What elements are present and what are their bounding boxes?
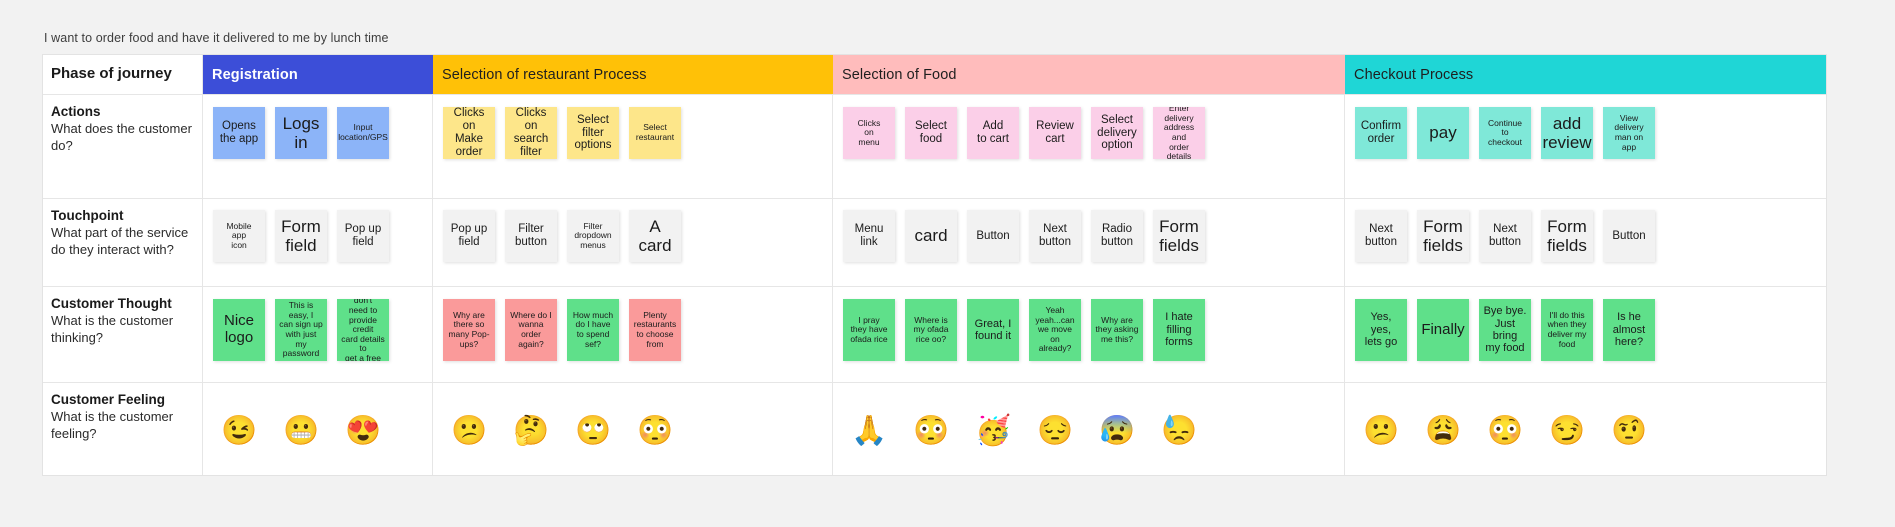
cells: 😕🤔🙄😳: [433, 383, 833, 475]
action-group-checkout: ConfirmorderpayContinuetocheckoutaddrevi…: [1345, 95, 1826, 198]
emoji-icon: 🤔: [505, 417, 557, 446]
cells: ConfirmorderpayContinuetocheckoutaddrevi…: [1345, 95, 1826, 198]
emoji-icon: 😰: [1091, 417, 1143, 446]
row-label-touchpoint-title: Touchpoint: [51, 208, 202, 225]
feeling-group-checkout: 😕😩😳😏🤨: [1345, 383, 1826, 475]
row-touchpoint: Touchpoint What part of the service do t…: [43, 199, 1826, 287]
cells: Yes, yes,lets goFinallyBye bye.Just brin…: [1345, 287, 1826, 382]
thought-note[interactable]: Bye bye.Just bringmy food: [1479, 299, 1531, 361]
action-note[interactable]: Continuetocheckout: [1479, 107, 1531, 159]
row-label-feeling-sub: What is the customer feeling?: [51, 409, 202, 442]
touchpoint-group-restaurant: Pop upfieldFilterbuttonFilterdropdownmen…: [433, 199, 833, 286]
touchpoint-note[interactable]: Formfields: [1153, 210, 1205, 262]
touchpoint-note[interactable]: card: [905, 210, 957, 262]
emoji-icon: 😉: [213, 417, 265, 446]
touchpoint-note[interactable]: Formfields: [1417, 210, 1469, 262]
action-note[interactable]: Addto cart: [967, 107, 1019, 159]
emoji-icon: 😳: [1479, 417, 1531, 446]
thought-note[interactable]: Where do Iwannaorderagain?: [505, 299, 557, 361]
thought-group-restaurant: Why arethere somany Pop-ups?Where do Iwa…: [433, 287, 833, 382]
touchpoint-group-checkout: NextbuttonFormfieldsNextbuttonFormfields…: [1345, 199, 1826, 286]
thought-group-registration: NicelogoThis is easy, Ican sign upwith j…: [203, 287, 433, 382]
action-group-food: ClicksonmenuSelectfoodAddto cartReviewca…: [833, 95, 1345, 198]
action-note[interactable]: Selectfood: [905, 107, 957, 159]
phase-header-checkout[interactable]: Checkout Process: [1345, 55, 1826, 94]
phase-header-registration[interactable]: Registration: [203, 55, 433, 94]
emoji-icon: 🥳: [967, 417, 1019, 446]
action-note[interactable]: Reviewcart: [1029, 107, 1081, 159]
thought-note[interactable]: Why arethey askingme this?: [1091, 299, 1143, 361]
thought-note[interactable]: Finally: [1417, 299, 1469, 361]
phase-column-restaurant: Selection of restaurant Process: [433, 55, 833, 94]
emoji-icon: 🙏: [843, 417, 895, 446]
phase-column-registration: Registration: [203, 55, 433, 94]
action-note[interactable]: Selectfilteroptions: [567, 107, 619, 159]
emoji-icon: 😍: [337, 417, 389, 446]
cells: 😉😬😍: [203, 383, 433, 475]
action-group-registration: Opensthe appLogsinInputlocation/GPS: [203, 95, 433, 198]
action-note[interactable]: Inputlocation/GPS: [337, 107, 389, 159]
touchpoint-note[interactable]: Formfields: [1541, 210, 1593, 262]
phase-header-restaurant[interactable]: Selection of restaurant Process: [433, 55, 833, 94]
thought-note[interactable]: Why arethere somany Pop-ups?: [443, 299, 495, 361]
action-note[interactable]: Selectrestaurant: [629, 107, 681, 159]
thought-note[interactable]: Is healmosthere?: [1603, 299, 1655, 361]
row-actions: Actions What does the customer do? Opens…: [43, 95, 1826, 199]
row-label-touchpoint: Touchpoint What part of the service do t…: [43, 199, 203, 286]
thought-note[interactable]: How muchdo I haveto spendsef?: [567, 299, 619, 361]
touchpoint-note[interactable]: Pop upfield: [337, 210, 389, 262]
journey-map-grid: Phase of journey RegistrationSelection o…: [43, 55, 1826, 475]
thought-note[interactable]: I'll do thiswhen theydeliver myfood: [1541, 299, 1593, 361]
emoji-icon: 🤨: [1603, 417, 1655, 446]
cells: Opensthe appLogsinInputlocation/GPS: [203, 95, 433, 198]
action-note[interactable]: Viewdeliveryman onapp: [1603, 107, 1655, 159]
touchpoint-note[interactable]: Filterbutton: [505, 210, 557, 262]
row-thought: Customer Thought What is the customer th…: [43, 287, 1826, 383]
thought-group-food: I praythey haveofada riceWhere ismy ofad…: [833, 287, 1345, 382]
cells: Clicks onMakeorderClicks onsearchfilterS…: [433, 95, 833, 198]
emoji-icon: 😬: [275, 417, 327, 446]
row-label-feeling-title: Customer Feeling: [51, 392, 202, 409]
thought-group-checkout: Yes, yes,lets goFinallyBye bye.Just brin…: [1345, 287, 1826, 382]
emoji-icon: 😏: [1541, 417, 1593, 446]
action-note[interactable]: Selectdeliveryoption: [1091, 107, 1143, 159]
thought-note[interactable]: Nicelogo: [213, 299, 265, 361]
action-note[interactable]: Clicks onsearchfilter: [505, 107, 557, 159]
emoji-icon: 😔: [1029, 417, 1081, 446]
feeling-group-restaurant: 😕🤔🙄😳: [433, 383, 833, 475]
row-label-actions-title: Actions: [51, 104, 202, 121]
thought-note[interactable]: Yeahyeah...canwe moveon already?: [1029, 299, 1081, 361]
touchpoint-note[interactable]: Acard: [629, 210, 681, 262]
feeling-group-registration: 😉😬😍: [203, 383, 433, 475]
touchpoint-note[interactable]: Button: [1603, 210, 1655, 262]
touchpoint-note[interactable]: Nextbutton: [1355, 210, 1407, 262]
cells: NextbuttonFormfieldsNextbuttonFormfields…: [1345, 199, 1826, 286]
touchpoint-note[interactable]: Button: [967, 210, 1019, 262]
thought-cells: NicelogoThis is easy, Ican sign upwith j…: [203, 287, 1826, 382]
row-label-phase: Phase of journey: [43, 55, 203, 94]
cells: I praythey haveofada riceWhere ismy ofad…: [833, 287, 1345, 382]
row-feeling: Customer Feeling What is the customer fe…: [43, 383, 1826, 475]
thought-note[interactable]: Great, Ifound it: [967, 299, 1019, 361]
touchpoint-note[interactable]: Formfield: [275, 210, 327, 262]
cells: 😕😩😳😏🤨: [1345, 383, 1826, 475]
journey-map-board: I want to order food and have it deliver…: [0, 0, 1895, 527]
thought-note[interactable]: Great I don'tneed toprovide creditcard d…: [337, 299, 389, 361]
actions-cells: Opensthe appLogsinInputlocation/GPSClick…: [203, 95, 1826, 198]
thought-note[interactable]: This is easy, Ican sign upwith just mypa…: [275, 299, 327, 361]
row-label-touchpoint-sub: What part of the service do they interac…: [51, 225, 202, 258]
phase-column-food: Selection of Food: [833, 55, 1345, 94]
cells: MobileappiconFormfieldPop upfield: [203, 199, 433, 286]
action-note[interactable]: Logsin: [275, 107, 327, 159]
touchpoint-note[interactable]: Nextbutton: [1029, 210, 1081, 262]
row-label-phase-title: Phase of journey: [51, 65, 172, 84]
emoji-icon: 😕: [443, 417, 495, 446]
phase-column-checkout: Checkout Process: [1345, 55, 1826, 94]
emoji-icon: 🙄: [567, 417, 619, 446]
action-note[interactable]: Confirmorder: [1355, 107, 1407, 159]
cells: Why arethere somany Pop-ups?Where do Iwa…: [433, 287, 833, 382]
cells: 🙏😳🥳😔😰😓: [833, 383, 1345, 475]
touchpoint-note[interactable]: Mobileappicon: [213, 210, 265, 262]
action-note[interactable]: pay: [1417, 107, 1469, 159]
touchpoint-group-registration: MobileappiconFormfieldPop upfield: [203, 199, 433, 286]
row-label-thought-sub: What is the customer thinking?: [51, 313, 202, 346]
touchpoint-note[interactable]: Radiobutton: [1091, 210, 1143, 262]
phase-band-container: RegistrationSelection of restaurant Proc…: [203, 55, 1826, 94]
thought-note[interactable]: I hatefillingforms: [1153, 299, 1205, 361]
action-note[interactable]: Clicks onMakeorder: [443, 107, 495, 159]
touchpoint-note[interactable]: Menulink: [843, 210, 895, 262]
action-note[interactable]: Enterdeliveryaddress andorder details: [1153, 107, 1205, 159]
row-label-actions: Actions What does the customer do?: [43, 95, 203, 198]
row-label-feeling: Customer Feeling What is the customer fe…: [43, 383, 203, 475]
cells: ClicksonmenuSelectfoodAddto cartReviewca…: [833, 95, 1345, 198]
touchpoint-group-food: MenulinkcardButtonNextbuttonRadiobuttonF…: [833, 199, 1345, 286]
thought-note[interactable]: Yes, yes,lets go: [1355, 299, 1407, 361]
thought-note[interactable]: Where ismy ofadarice oo?: [905, 299, 957, 361]
action-group-restaurant: Clicks onMakeorderClicks onsearchfilterS…: [433, 95, 833, 198]
touchpoint-note[interactable]: Filterdropdownmenus: [567, 210, 619, 262]
touchpoint-note[interactable]: Pop upfield: [443, 210, 495, 262]
emoji-icon: 😓: [1153, 417, 1205, 446]
action-note[interactable]: Opensthe app: [213, 107, 265, 159]
thought-note[interactable]: Plentyrestaurantsto choosefrom: [629, 299, 681, 361]
phase-header-food[interactable]: Selection of Food: [833, 55, 1345, 94]
goal-statement: I want to order food and have it deliver…: [44, 31, 389, 45]
action-note[interactable]: addreview: [1541, 107, 1593, 159]
cells: MenulinkcardButtonNextbuttonRadiobuttonF…: [833, 199, 1345, 286]
row-label-thought-title: Customer Thought: [51, 296, 202, 313]
feeling-cells: 😉😬😍😕🤔🙄😳🙏😳🥳😔😰😓😕😩😳😏🤨: [203, 383, 1826, 475]
row-label-actions-sub: What does the customer do?: [51, 121, 202, 154]
thought-note[interactable]: I praythey haveofada rice: [843, 299, 895, 361]
row-label-thought: Customer Thought What is the customer th…: [43, 287, 203, 382]
touchpoint-note[interactable]: Nextbutton: [1479, 210, 1531, 262]
emoji-icon: 😳: [629, 417, 681, 446]
emoji-icon: 😕: [1355, 417, 1407, 446]
cells: Pop upfieldFilterbuttonFilterdropdownmen…: [433, 199, 833, 286]
emoji-icon: 😳: [905, 417, 957, 446]
action-note[interactable]: Clicksonmenu: [843, 107, 895, 159]
touchpoint-cells: MobileappiconFormfieldPop upfieldPop upf…: [203, 199, 1826, 286]
cells: NicelogoThis is easy, Ican sign upwith j…: [203, 287, 433, 382]
feeling-group-food: 🙏😳🥳😔😰😓: [833, 383, 1345, 475]
emoji-icon: 😩: [1417, 417, 1469, 446]
row-phase: Phase of journey RegistrationSelection o…: [43, 55, 1826, 95]
